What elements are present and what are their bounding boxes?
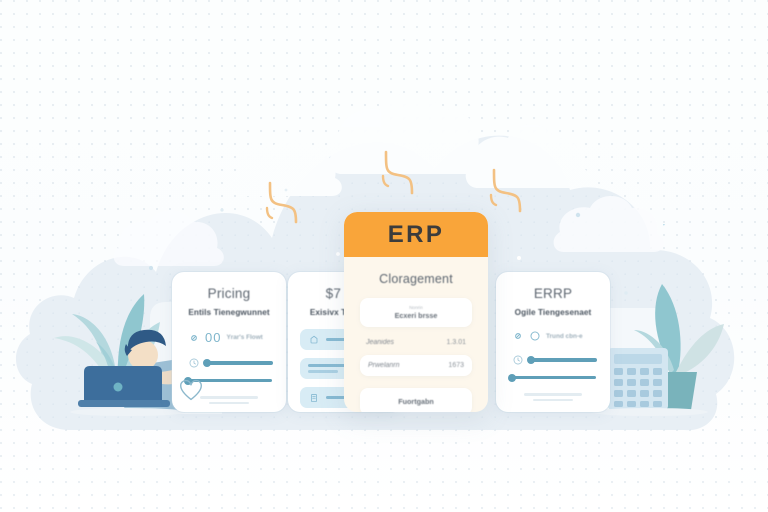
pricing-card-title: Pricing — [172, 286, 286, 301]
slider-knob[interactable] — [203, 359, 211, 367]
detail-value: 1.3.01 — [447, 339, 466, 346]
link-icon — [512, 330, 524, 342]
detail-key: Jeanides — [366, 339, 394, 346]
erp-featured-card[interactable]: ERP Cloragement Nonrin Ecxeri brsse Jean… — [344, 212, 488, 412]
link-icon — [188, 332, 200, 344]
erp-metric-row: Trund cbn-e — [512, 330, 610, 342]
erp-card-title: ERRP — [496, 286, 610, 301]
scene-root: Pricing Entils Tienegwunnet 00 Yrar's Fl… — [0, 0, 768, 512]
circle-icon — [529, 330, 541, 342]
erp-badge-label: ERP — [388, 221, 445, 249]
heart-outline-icon — [178, 378, 204, 402]
erp-slider-1[interactable] — [512, 354, 610, 366]
featured-card-title: Cloragement — [344, 272, 488, 286]
summary-caption: Nonrin — [368, 305, 464, 310]
action-label: Fuortgabn — [368, 397, 464, 406]
pricing-slider-1[interactable] — [188, 357, 286, 369]
summary-value: Ecxeri brsse — [368, 311, 464, 320]
slider-track[interactable] — [512, 376, 596, 379]
slider-knob[interactable] — [527, 356, 535, 364]
erp-slider-2[interactable] — [512, 376, 610, 379]
erp-card-subtitle: Ogile Tiengesenaet — [496, 308, 610, 317]
pricing-metric-row: 00 Yrar's Flowt — [188, 330, 286, 345]
slider-track[interactable] — [207, 361, 273, 364]
plans-row-bar — [308, 370, 338, 373]
erp-footer-lines — [524, 393, 582, 400]
pricing-card-subtitle: Entils Tienegwunnet — [172, 308, 286, 317]
erp-metric-label: Trund cbn-e — [546, 333, 583, 340]
action-box[interactable]: Fuortgabn — [360, 388, 472, 412]
detail-key: Prwelanrn — [368, 362, 400, 369]
detail-row-2[interactable]: Prwelanrn 1673 — [360, 355, 472, 376]
detail-row-1: Jeanides 1.3.01 — [366, 339, 466, 346]
document-icon — [308, 392, 320, 404]
erp-card[interactable]: ERRP Ogile Tiengesenaet Trund cbn-e — [496, 272, 610, 412]
detail-value: 1673 — [448, 362, 464, 369]
slider-track[interactable] — [531, 358, 597, 361]
pricing-metric-value: 00 — [205, 330, 221, 345]
pricing-metric-label: Yrar's Flowt — [226, 334, 262, 341]
clock-icon — [512, 354, 524, 366]
clock-icon — [188, 357, 200, 369]
tag-icon — [308, 334, 320, 346]
slider-knob[interactable] — [508, 374, 516, 382]
erp-badge-header: ERP — [344, 212, 488, 257]
pricing-footer-lines — [200, 396, 258, 403]
summary-box[interactable]: Nonrin Ecxeri brsse — [360, 298, 472, 327]
